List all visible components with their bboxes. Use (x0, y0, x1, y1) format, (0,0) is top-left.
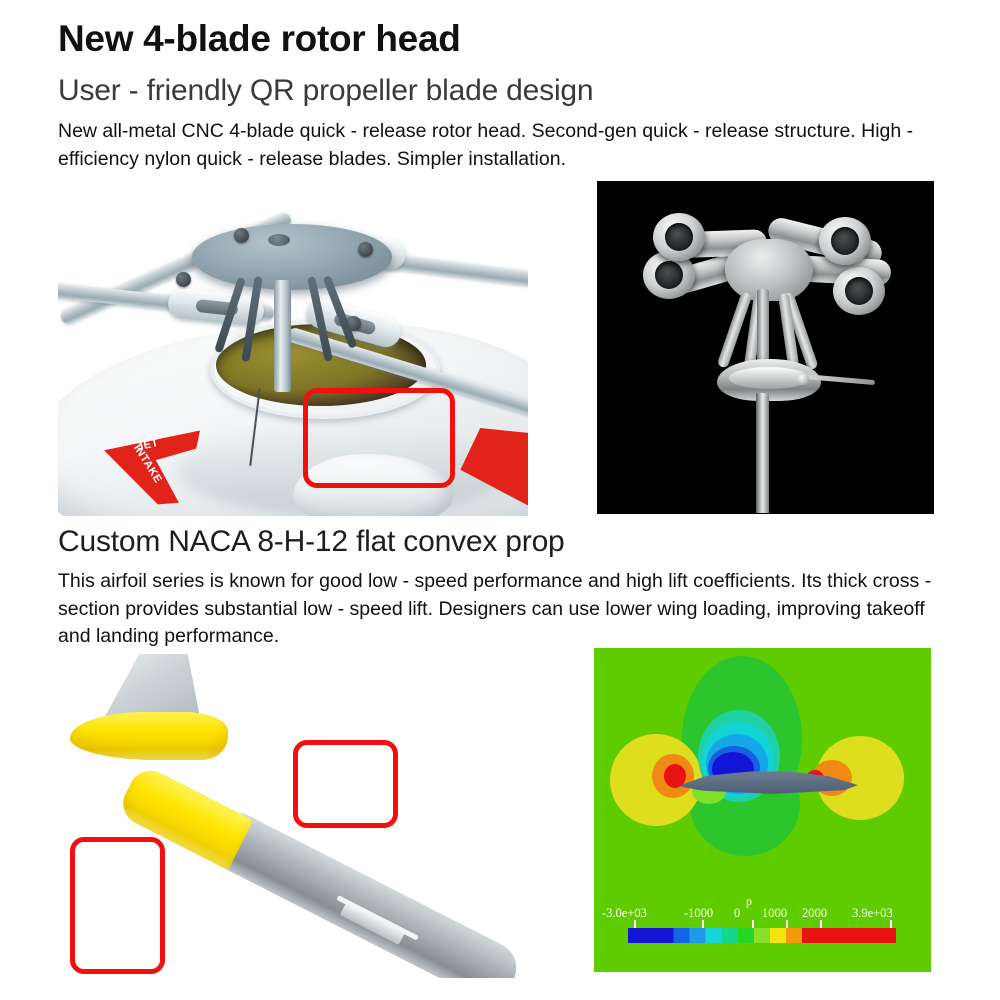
rotor-hub-core (725, 239, 813, 301)
photo-propeller-blade (58, 648, 528, 978)
annotation-box-blade-root (70, 837, 165, 974)
photo-rotor-head-installed: JET INTAKE (58, 176, 528, 516)
colorbar-tick-label-0: -3.0e+03 (602, 906, 647, 921)
rotor-hub-plate (192, 224, 392, 290)
inner-shaft (757, 289, 769, 365)
propeller-blade (114, 761, 525, 978)
pressure-contour-field (594, 648, 931, 888)
inset-closeup-blade-root (66, 654, 236, 764)
colorbar-tick-label-3: 1000 (762, 906, 787, 921)
main-rotor-shaft (756, 393, 769, 513)
page-title: New 4-blade rotor head (58, 18, 938, 59)
socket-bore (845, 277, 873, 305)
colorbar-gradient (628, 928, 896, 943)
section2-title: Custom NACA 8-H-12 flat convex prop (58, 525, 948, 560)
socket-bore (665, 223, 693, 251)
blade-gray-section (214, 811, 525, 978)
cfd-pressure-contour-plot: p -3.0e+03 -1000 0 1000 2000 3.9e+03 (594, 648, 931, 972)
colorbar-tick-label-2: 0 (734, 906, 740, 921)
colorbar-tick-label-1: -1000 (684, 906, 713, 921)
section1-body-text: New all-metal CNC 4-blade quick - releas… (58, 118, 948, 173)
hub-bolt (234, 228, 249, 243)
blade-yellow-root (116, 763, 254, 870)
socket-bore (655, 261, 683, 289)
blade-socket-east (833, 267, 885, 315)
colorbar-tick-label-5: 3.9e+03 (852, 906, 893, 921)
hub-bolt (176, 272, 191, 287)
colorbar-tick-labels: -3.0e+03 -1000 0 1000 2000 3.9e+03 (594, 906, 931, 924)
blade-socket-northwest (653, 213, 705, 261)
jet-intake-decal: JET INTAKE (104, 424, 200, 506)
socket-bore (831, 227, 859, 255)
rotor-mast (274, 280, 291, 392)
section2-body-text: This airfoil series is known for good lo… (58, 568, 958, 651)
rotor-hub-center-bolt (268, 234, 290, 246)
contour-region-stagnation-red (664, 764, 686, 788)
blade-socket-northeast (819, 217, 871, 265)
pushrod-ball-link (797, 373, 809, 385)
infographic-page: New 4-blade rotor head User - friendly Q… (0, 0, 1000, 1000)
annotation-box-blade-notch (293, 740, 398, 828)
photo-rotor-head-bare (597, 181, 934, 514)
colorbar-tick-label-4: 2000 (802, 906, 827, 921)
hub-bolt (358, 242, 373, 257)
page-subtitle: User - friendly QR propeller blade desig… (58, 74, 938, 109)
inset-yellow-root (70, 712, 228, 760)
